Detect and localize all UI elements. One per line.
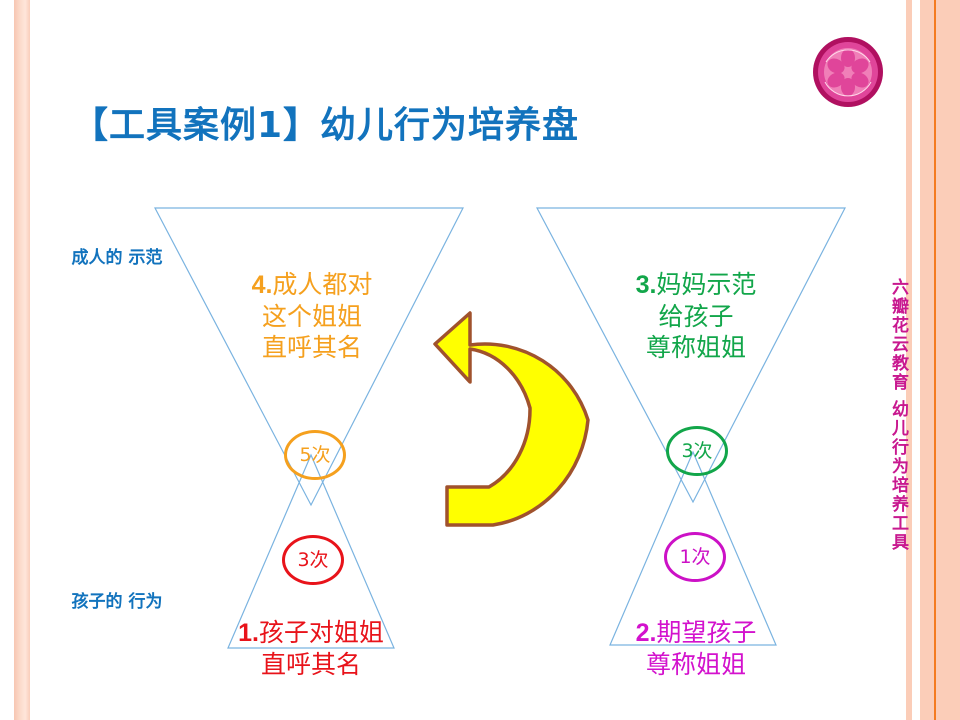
cell-adult-right-text: 妈妈示范 给孩子 尊称姐姐 [646,270,756,362]
cell-child-left-number: 1. [238,619,259,647]
cell-child-right-number: 2. [636,619,657,647]
cell-adult-left: 4.成人都对 这个姐姐 直呼其名 [218,238,406,363]
curved-feedback-arrow [435,313,588,525]
cell-child-left: 1.孩子对姐姐 直呼其名 [210,586,412,680]
cell-child-right-text: 期望孩子 尊称姐姐 [646,618,756,679]
cell-adult-right: 3.妈妈示范 给孩子 尊称姐姐 [600,238,792,363]
count-badge-right-upper: 3次 [666,426,728,476]
cell-adult-right-number: 3. [636,271,657,299]
cell-adult-left-number: 4. [252,271,273,299]
count-badge-right-lower: 1次 [664,532,726,582]
cell-child-right: 2.期望孩子 尊称姐姐 [598,586,794,680]
count-badge-left-upper: 5次 [284,430,346,480]
slide-canvas: 【工具案例1】幼儿行为培养盘 六瓣花云教育 幼儿行为培养工具 成人的 示范 孩子… [0,0,960,720]
count-badge-left-lower: 3次 [282,535,344,585]
cell-child-left-text: 孩子对姐姐 直呼其名 [259,618,384,679]
cell-adult-left-text: 成人都对 这个姐姐 直呼其名 [262,270,372,362]
behavior-tray-diagram [0,0,960,720]
